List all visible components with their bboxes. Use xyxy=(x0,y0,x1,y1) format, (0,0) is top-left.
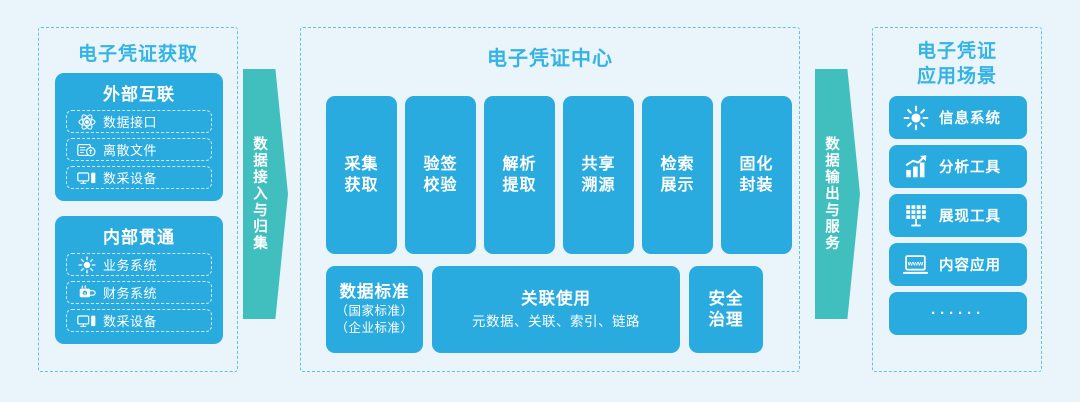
app-card-label: 内容应用 xyxy=(939,254,1001,275)
group-title-internal: 内部贯通 xyxy=(55,216,223,248)
sub-item-label: 业务系统 xyxy=(103,255,157,274)
pillar-line1: 共享 xyxy=(581,156,615,173)
sub-item-data-collection-device[interactable]: 数采设备 xyxy=(66,309,212,332)
pillar-seal-package[interactable]: 固化封装 xyxy=(721,96,792,254)
pillar-line1: 解析 xyxy=(502,156,536,173)
sub-item-label: 数据接口 xyxy=(103,112,157,131)
sun-icon xyxy=(74,256,100,273)
pillar-line1: 采集 xyxy=(344,156,378,173)
app-card-more[interactable]: ······ xyxy=(889,292,1027,335)
pillar-verify-signature[interactable]: 验签校验 xyxy=(405,96,476,254)
base-card-linked-usage[interactable]: 关联使用 元数据、关联、索引、链路 xyxy=(432,266,680,353)
arrow-in-label: 数据接入与归集 xyxy=(249,136,270,252)
right-panel-title: 电子凭证 应用场景 xyxy=(873,39,1041,89)
group-card-internal-integration: 内部贯通 xyxy=(55,216,223,344)
discrete-file-icon xyxy=(74,141,100,158)
pillar-search-display[interactable]: 检索展示 xyxy=(642,96,713,254)
laptop-www-icon: www xyxy=(899,251,933,279)
app-card-label: 分析工具 xyxy=(939,156,1001,177)
sub-item-data-interface[interactable]: 数据接口 xyxy=(66,110,212,133)
pillar-share-trace[interactable]: 共享溯源 xyxy=(563,96,634,254)
base-linkage-title: 关联使用 xyxy=(521,289,591,310)
diagram-canvas: 电子凭证获取 外部互联 数据接口 xyxy=(0,0,1080,402)
right-panel-application-scenarios: 电子凭证 应用场景 xyxy=(872,27,1042,372)
app-card-label: 展现工具 xyxy=(939,205,1001,226)
left-panel-evidence-acquisition: 电子凭证获取 外部互联 数据接口 xyxy=(38,27,238,372)
base-card-security-governance[interactable]: 安全 治理 xyxy=(689,266,763,353)
pillar-line2: 提取 xyxy=(502,177,536,194)
base-standard-title: 数据标准 xyxy=(340,282,410,303)
base-card-data-standard[interactable]: 数据标准 （国家标准） （企业标准） xyxy=(326,266,423,353)
right-panel-title-line2: 应用场景 xyxy=(917,66,997,87)
sub-item-label: 数采设备 xyxy=(103,168,157,187)
app-card-label: ······ xyxy=(931,305,985,322)
base-security-line1: 安全 xyxy=(709,290,744,308)
monitor-device-icon xyxy=(74,169,100,186)
base-security-line2: 治理 xyxy=(709,311,744,329)
base-linkage-sub: 元数据、关联、索引、链路 xyxy=(472,312,640,331)
pillar-line2: 封装 xyxy=(739,177,773,194)
arrow-data-ingestion: 数据接入与归集 xyxy=(243,69,288,319)
app-card-information-system[interactable]: 信息系统 xyxy=(889,96,1027,139)
atom-icon xyxy=(74,113,100,130)
pillar-line2: 获取 xyxy=(344,177,378,194)
sub-item-label: 财务系统 xyxy=(103,283,157,302)
app-card-analysis-tool[interactable]: 分析工具 xyxy=(889,145,1027,188)
finance-icon: ¥ xyxy=(74,284,100,301)
group-title-external: 外部互联 xyxy=(55,73,223,105)
pillar-line1: 固化 xyxy=(739,156,773,173)
sub-item-discrete-file[interactable]: 离散文件 xyxy=(66,138,212,161)
svg-text:www: www xyxy=(906,260,923,267)
center-panel-title: 电子凭证中心 xyxy=(301,42,799,71)
app-card-presentation-tool[interactable]: 展现工具 xyxy=(889,194,1027,237)
group-card-external-interconnect: 外部互联 数据接口 xyxy=(55,73,223,201)
pillar-collect[interactable]: 采集获取 xyxy=(326,96,397,254)
left-panel-title: 电子凭证获取 xyxy=(39,39,237,66)
base-standard-sub1: （国家标准） xyxy=(335,303,413,320)
sub-item-data-collection-device[interactable]: 数采设备 xyxy=(66,166,212,189)
sub-item-label: 数采设备 xyxy=(103,311,157,330)
sun-icon xyxy=(899,104,933,132)
monitor-device-icon xyxy=(74,312,100,329)
app-card-content-application[interactable]: www 内容应用 xyxy=(889,243,1027,286)
right-panel-title-line1: 电子凭证 xyxy=(917,41,997,62)
pillar-line2: 校验 xyxy=(423,177,457,194)
grid-display-icon xyxy=(899,202,933,230)
arrow-out-label: 数据输出与服务 xyxy=(821,136,842,252)
sub-item-label: 离散文件 xyxy=(103,140,157,159)
pillar-line2: 溯源 xyxy=(581,177,615,194)
arrow-data-output: 数据输出与服务 xyxy=(815,69,860,319)
pillar-parse-extract[interactable]: 解析提取 xyxy=(484,96,555,254)
sub-item-business-system[interactable]: 业务系统 xyxy=(66,253,212,276)
pillar-line2: 展示 xyxy=(660,177,694,194)
center-panel-evidence-center: 电子凭证中心 采集获取 验签校验 解析提取 共享溯源 检索展示 固化封装 数据标… xyxy=(300,27,800,372)
base-standard-sub2: （企业标准） xyxy=(335,320,413,337)
app-card-label: 信息系统 xyxy=(939,107,1001,128)
sub-item-finance-system[interactable]: ¥ 财务系统 xyxy=(66,281,212,304)
bar-chart-up-icon xyxy=(899,153,933,181)
pillar-line1: 验签 xyxy=(423,156,457,173)
pillar-line1: 检索 xyxy=(660,156,694,173)
